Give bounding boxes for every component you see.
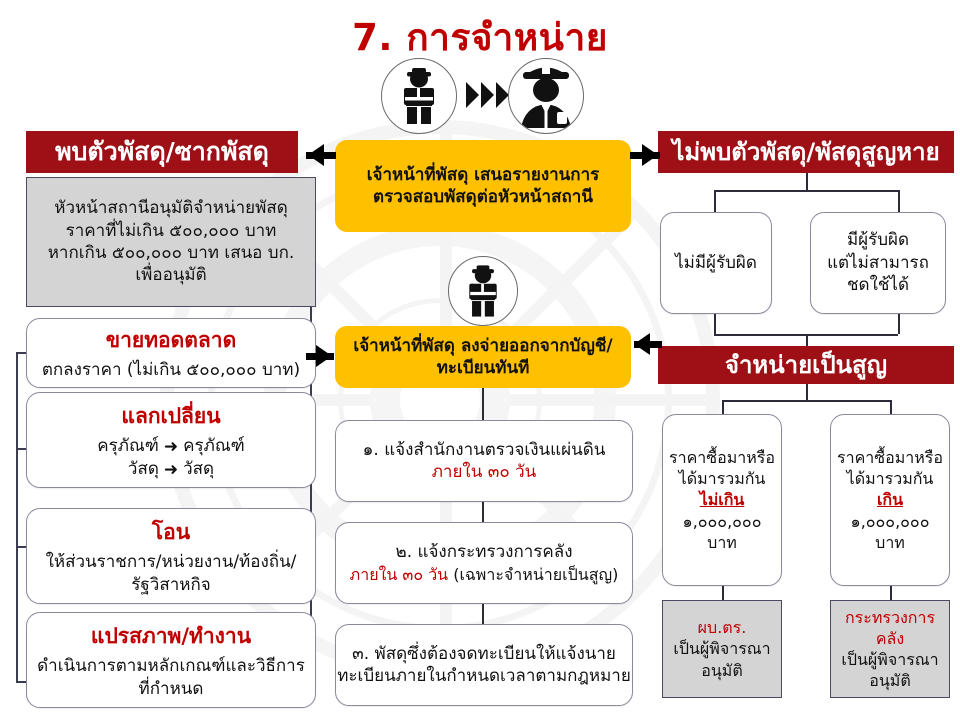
police-officer-bust-icon xyxy=(508,58,584,134)
triple-chevron-right-icon xyxy=(466,82,509,108)
option-exchange-pair-2: วัสดุ➜วัสดุ xyxy=(128,458,214,480)
option-transfer-line-1: ให้ส่วนราชการ/หน่วยงาน/ท้องถิ่น/ xyxy=(46,551,297,573)
center-box1-line1: เจ้าหน้าที่พัสดุ เสนอรายงานการ xyxy=(367,164,600,186)
option-transfer-heading: โอน xyxy=(152,516,190,549)
price1-amount: ๑,๐๐๐,๐๐๐ xyxy=(683,511,762,532)
approver1-line-2: อนุมัติ xyxy=(701,660,742,681)
arrow-right-to-center-icon xyxy=(634,333,650,355)
right-price-box-over-limit: ราคาซื้อมาหรือ ได้มารวมกัน เกิน ๑,๐๐๐,๐๐… xyxy=(830,414,950,586)
case1-line-1: ไม่มีผู้รับผิด xyxy=(675,252,757,274)
price1-line-2: ได้มารวมกัน xyxy=(679,468,766,489)
option-auction-line: ตกลงราคา (ไม่เกิน ๕๐๐,๐๐๐ บาท) xyxy=(42,359,300,381)
police-officer-full-body-icon xyxy=(448,256,518,326)
right-header-write-off-as-loss: จำหน่ายเป็นสูญ xyxy=(658,346,954,384)
right-approver-ministry-finance: กระทรวงการคลัง เป็นผู้พิจารณา อนุมัติ xyxy=(830,600,950,698)
arrow-to-right-header-icon xyxy=(642,144,658,166)
left-option-convert: แปรสภาพ/ทำงาน ดำเนินการตามหลักเกณฑ์และวิ… xyxy=(26,612,316,708)
option-transfer-line-2: รัฐวิสาหกิจ xyxy=(131,574,210,596)
left-option-auction: ขายทอดตลาด ตกลงราคา (ไม่เกิน ๕๐๐,๐๐๐ บาท… xyxy=(26,318,316,388)
step1-line2: ภายใน ๓๐ วัน xyxy=(432,461,537,483)
right-price-box-under-limit: ราคาซื้อมาหรือ ได้มารวมกัน ไม่เกิน ๑,๐๐๐… xyxy=(662,414,782,586)
left-header-found-asset: พบตัวพัสดุ/ซากพัสดุ xyxy=(26,131,298,173)
approval-line-1: หัวหน้าสถานีอนุมัติจำหน่ายพัสดุ xyxy=(54,197,288,219)
exchange-pair2-from: วัสดุ xyxy=(128,459,159,479)
approver1-authority: ผบ.ตร. xyxy=(698,617,747,638)
center-box1-line2: ตรวจสอบพัสดุต่อหัวหน้าสถานี xyxy=(373,186,593,208)
price2-line-2: ได้มารวมกัน xyxy=(847,468,934,489)
right-header-label: ไม่พบตัวพัสดุ/พัสดุสูญหาย xyxy=(672,139,939,165)
center-step-report-box: เจ้าหน้าที่พัสดุ เสนอรายงานการ ตรวจสอบพั… xyxy=(335,140,631,232)
approval-line-2: ราคาที่ไม่เกิน ๕๐๐,๐๐๐ บาท xyxy=(66,220,277,242)
center-notice-step-3: ๓. พัสดุซึ่งต้องจดทะเบียนให้แจ้งนาย ทะเบ… xyxy=(335,624,633,706)
option-convert-line-1: ดำเนินการตามหลักเกณฑ์และวิธีการ xyxy=(37,655,305,677)
left-option-transfer: โอน ให้ส่วนราชการ/หน่วยงาน/ท้องถิ่น/ รัฐ… xyxy=(26,508,316,604)
price1-unit: บาท xyxy=(707,532,737,553)
exchange-pair1-to: ครุภัณฑ์ xyxy=(183,436,245,456)
case2-line-1: มีผู้รับผิด xyxy=(847,229,909,251)
approver2-line-2: อนุมัติ xyxy=(869,670,910,691)
step2-line2: ภายใน ๓๐ วัน (เฉพาะจำหน่ายเป็นสูญ) xyxy=(350,564,619,585)
right-header2-label: จำหน่ายเป็นสูญ xyxy=(725,352,887,378)
right-header-missing-asset: ไม่พบตัวพัสดุ/พัสดุสูญหาย xyxy=(658,131,954,173)
step1-deadline: ภายใน ๓๐ วัน xyxy=(432,462,537,482)
price1-condition: ไม่เกิน xyxy=(700,489,745,510)
price2-condition: เกิน xyxy=(877,489,903,510)
arrow-options-to-center-icon xyxy=(316,345,332,367)
left-option-exchange: แลกเปลี่ยน ครุภัณฑ์➜ครุภัณฑ์ วัสดุ➜วัสดุ xyxy=(26,392,316,488)
case2-line-2: แต่ไม่สามารถ xyxy=(827,252,929,274)
approver2-line-1: เป็นผู้พิจารณา xyxy=(841,649,938,670)
left-header-label: พบตัวพัสดุ/ซากพัสดุ xyxy=(55,138,269,166)
price2-amount: ๑,๐๐๐,๐๐๐ xyxy=(851,511,930,532)
approver1-line-1: เป็นผู้พิจารณา xyxy=(673,638,770,659)
step3-line2: ทะเบียนภายในกำหนดเวลาตามกฎหมาย xyxy=(337,665,631,687)
option-convert-line-2: ที่กำหนด xyxy=(139,678,204,700)
center-box2-line1: เจ้าหน้าที่พัสดุ ลงจ่ายออกจากบัญชี/ xyxy=(353,335,612,357)
option-convert-heading: แปรสภาพ/ทำงาน xyxy=(91,620,251,653)
arrow-to-left-header-icon xyxy=(308,144,324,166)
price1-line-1: ราคาซื้อมาหรือ xyxy=(669,447,775,468)
right-approver-police-commissioner: ผบ.ตร. เป็นผู้พิจารณา อนุมัติ xyxy=(662,600,782,698)
option-auction-heading: ขายทอดตลาด xyxy=(106,324,236,357)
center-step-writeoff-box: เจ้าหน้าที่พัสดุ ลงจ่ายออกจากบัญชี/ ทะเบ… xyxy=(335,326,631,388)
step2-deadline: ภายใน ๓๐ วัน xyxy=(350,565,448,584)
center-box2-line2: ทะเบียนทันที xyxy=(437,357,530,379)
page-title: 7. การจำหน่าย xyxy=(0,8,960,67)
right-case-liable-cannot-pay: มีผู้รับผิด แต่ไม่สามารถ ชดใช้ได้ xyxy=(810,212,946,314)
approval-line-3: หากเกิน ๕๐๐,๐๐๐ บาท เสนอ บก. xyxy=(48,242,295,264)
left-approval-box: หัวหน้าสถานีอนุมัติจำหน่ายพัสดุ ราคาที่ไ… xyxy=(26,177,316,307)
arrow-right-glyph-icon: ➜ xyxy=(164,459,178,481)
right-case-no-liable: ไม่มีผู้รับผิด xyxy=(660,212,772,314)
approver2-authority: กระทรวงการคลัง xyxy=(831,607,949,649)
step2-line1: ๒. แจ้งกระทรวงการคลัง xyxy=(395,541,572,563)
option-exchange-pair-1: ครุภัณฑ์➜ครุภัณฑ์ xyxy=(97,435,244,457)
exchange-pair2-to: วัสดุ xyxy=(183,459,214,479)
approval-line-4: เพื่ออนุมัติ xyxy=(135,264,206,286)
option-exchange-heading: แลกเปลี่ยน xyxy=(121,400,220,433)
case2-line-3: ชดใช้ได้ xyxy=(847,274,909,296)
step1-line1: ๑. แจ้งสำนักงานตรวจเงินแผ่นดิน xyxy=(363,439,606,461)
arrow-right-glyph-icon: ➜ xyxy=(164,436,178,458)
step2-note: (เฉพาะจำหน่ายเป็นสูญ) xyxy=(448,565,618,584)
center-notice-step-2: ๒. แจ้งกระทรวงการคลัง ภายใน ๓๐ วัน (เฉพา… xyxy=(335,522,633,604)
price2-line-1: ราคาซื้อมาหรือ xyxy=(837,447,943,468)
center-notice-step-1: ๑. แจ้งสำนักงานตรวจเงินแผ่นดิน ภายใน ๓๐ … xyxy=(335,420,633,502)
exchange-pair1-from: ครุภัณฑ์ xyxy=(97,436,159,456)
step3-line1: ๓. พัสดุซึ่งต้องจดทะเบียนให้แจ้งนาย xyxy=(352,643,616,665)
police-officer-full-body-icon xyxy=(381,58,457,134)
price2-unit: บาท xyxy=(875,532,905,553)
